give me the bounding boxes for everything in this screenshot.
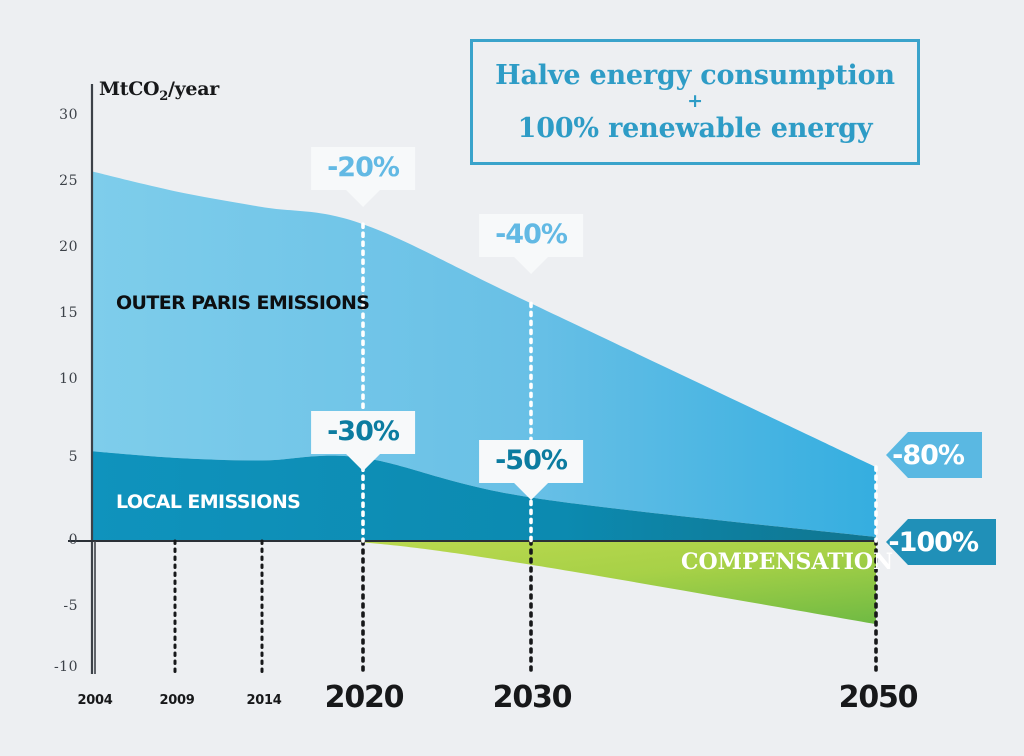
y-tick-label: 20 (34, 239, 78, 255)
y-tick-label: 0 (34, 532, 78, 548)
x-tick-2020: 2020 (325, 680, 404, 715)
infographic-chart: MtCO2/year 30 25 20 15 10 5 0 -5 -10 200… (0, 0, 1024, 756)
x-tick-2030: 2030 (493, 680, 572, 715)
callout-minus-100-percent: -100% (886, 519, 996, 565)
goal-line-1: Halve energy consumption (495, 60, 895, 91)
x-tick-2014: 2014 (247, 693, 282, 708)
y-axis-title: MtCO2/year (99, 78, 219, 104)
goal-line-plus: + (687, 92, 703, 111)
y-tick-label: 5 (34, 449, 78, 465)
y-tick-label: 25 (34, 173, 78, 189)
x-tick-2009: 2009 (160, 693, 195, 708)
goal-callout-box: Halve energy consumption + 100% renewabl… (470, 39, 920, 165)
x-tick-2004: 2004 (78, 693, 113, 708)
y-axis-title-subscript: 2 (159, 89, 168, 104)
y-tick-label: -10 (34, 659, 78, 675)
y-tick-label: 10 (34, 371, 78, 387)
goal-line-2: 100% renewable energy (518, 113, 873, 144)
callout-minus-30-percent: -30% (311, 411, 415, 454)
y-tick-label: 15 (34, 305, 78, 321)
y-tick-label: -5 (34, 598, 78, 614)
y-axis-title-prefix: MtCO (99, 78, 159, 100)
series-label-outer-paris-emissions: OUTER PARIS EMISSIONS (116, 292, 369, 314)
callout-minus-50-percent: -50% (479, 440, 583, 483)
series-label-local-emissions: LOCAL EMISSIONS (116, 491, 300, 513)
series-label-compensation: COMPENSATION (681, 549, 893, 575)
y-tick-label: 30 (34, 107, 78, 123)
y-axis-title-suffix: /year (168, 78, 219, 100)
callout-minus-40-percent: -40% (479, 214, 583, 257)
callout-minus-20-percent: -20% (311, 147, 415, 190)
x-tick-2050: 2050 (839, 680, 918, 715)
